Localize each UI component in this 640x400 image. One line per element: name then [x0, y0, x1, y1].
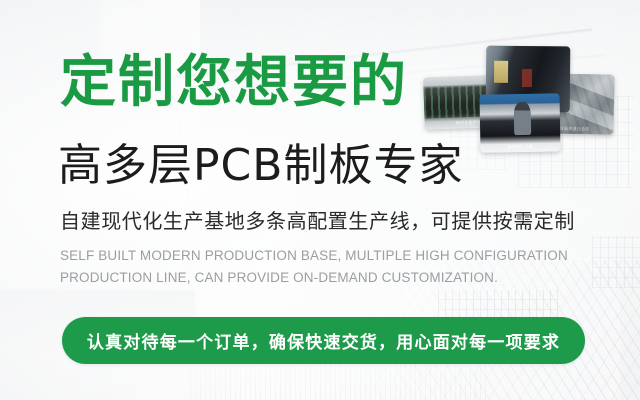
banner-content: 定制您想要的 高多层PCB制板专家 自建现代化生产基地多条高配置生产线，可提供按… — [0, 0, 640, 400]
pcb-promo-banner: 现代化生产线 全智能高温压合机 内层AOI自动检机 精密钻孔设备 定制您想要的 … — [0, 0, 640, 400]
tagline-chinese: 自建现代化生产基地多条高配置生产线，可提供按需定制 — [60, 207, 575, 235]
tagline-english-line-2: PRODUCTION LINE, CAN PROVIDE ON-DEMAND C… — [60, 267, 580, 289]
tagline-english: SELF BUILT MODERN PRODUCTION BASE, MULTI… — [60, 245, 580, 289]
headline-secondary: 高多层PCB制板专家 — [58, 140, 463, 192]
promise-pill-banner[interactable]: 认真对待每一个订单，确保快速交货，用心面对每一项要求 — [62, 317, 585, 364]
promise-pill-text: 认真对待每一个订单，确保快速交货，用心面对每一项要求 — [87, 328, 560, 353]
headline-primary: 定制您想要的 — [60, 52, 408, 114]
tagline-english-line-1: SELF BUILT MODERN PRODUCTION BASE, MULTI… — [60, 245, 580, 267]
